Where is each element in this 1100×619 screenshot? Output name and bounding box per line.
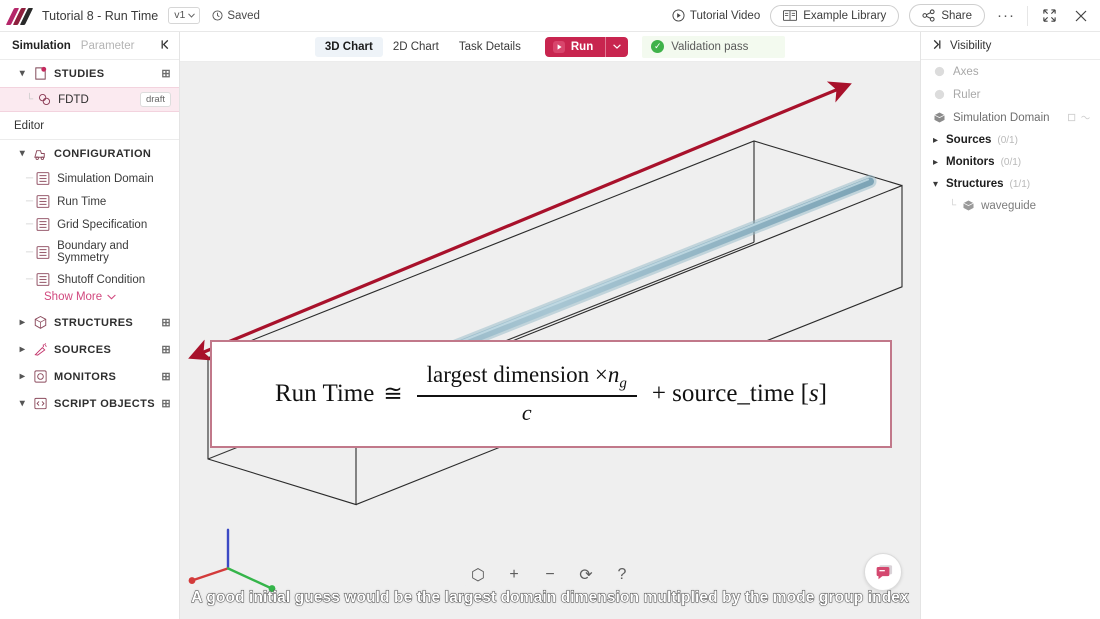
chevron-right-icon: ▸ xyxy=(18,371,27,382)
script-objects-icon xyxy=(33,396,48,411)
formula-relation: ≅ xyxy=(383,381,402,407)
structures-icon xyxy=(33,315,48,330)
group-count: (0/1) xyxy=(997,135,1018,146)
tab-simulation[interactable]: Simulation xyxy=(12,40,71,52)
sphere-icon xyxy=(933,65,946,78)
editor-label: Editor xyxy=(0,112,179,140)
sidebar-item-simulation-domain[interactable]: ─ Simulation Domain xyxy=(0,167,179,190)
item-label: Simulation Domain xyxy=(57,173,154,185)
tree-connector: └ xyxy=(26,94,33,105)
tail-unit: s xyxy=(809,380,819,407)
formula-denominator: c xyxy=(522,397,532,426)
item-label: waveguide xyxy=(981,200,1036,212)
configuration-icon xyxy=(33,146,48,161)
main-body: Simulation Parameter ▾ STUDIES xyxy=(0,32,1100,619)
reset-view-icon[interactable]: ⟳ xyxy=(573,563,599,587)
sidebar-tabs: Simulation Parameter xyxy=(0,32,179,60)
zoom-in-icon[interactable]: + xyxy=(501,563,527,587)
add-source-button[interactable]: ⊞ xyxy=(161,343,171,356)
group-count: (1/1) xyxy=(1010,179,1031,190)
chevron-down-icon xyxy=(107,294,116,300)
study-item-fdtd[interactable]: └ FDTD draft xyxy=(0,87,179,112)
collapse-left-icon[interactable] xyxy=(160,39,171,53)
add-monitor-button[interactable]: ⊞ xyxy=(161,370,171,383)
chevron-right-icon: ▸ xyxy=(931,157,940,168)
book-icon xyxy=(783,10,797,21)
center-area: 3D Chart 2D Chart Task Details Run xyxy=(180,32,920,619)
item-label: Shutoff Condition xyxy=(57,274,145,286)
group-label: Structures xyxy=(946,178,1004,190)
play-circle-icon xyxy=(672,9,685,22)
tail-text: + source_time [ xyxy=(652,380,809,407)
visibility-item-ruler[interactable]: Ruler xyxy=(921,83,1100,106)
expand-right-icon[interactable] xyxy=(931,39,942,53)
numerator-text: largest dimension × xyxy=(427,362,608,387)
flexcompute-logo[interactable] xyxy=(10,7,36,25)
validation-label: Validation pass xyxy=(671,41,748,53)
version-selector[interactable]: v1 xyxy=(168,7,200,24)
saved-status: Saved xyxy=(212,10,260,22)
structures-label: STRUCTURES xyxy=(54,317,133,329)
list-icon xyxy=(36,272,51,287)
axis-gizmo[interactable] xyxy=(189,530,276,592)
formula-callout: Run Time ≅ largest dimension ×ng c + sou… xyxy=(210,340,892,448)
visibility-group-monitors[interactable]: ▸ Monitors (0/1) xyxy=(921,151,1100,173)
show-more-button[interactable]: Show More xyxy=(0,291,179,303)
list-icon xyxy=(36,217,51,232)
share-icon xyxy=(922,9,935,22)
item-label: Boundary and Symmetry xyxy=(57,240,171,264)
sidebar-section-monitors[interactable]: ▸ MONITORS ⊞ xyxy=(0,363,179,390)
example-library-button[interactable]: Example Library xyxy=(770,5,899,27)
sidebar-section-structures[interactable]: ▸ STRUCTURES ⊞ xyxy=(0,309,179,336)
item-label: Grid Specification xyxy=(57,219,147,231)
right-sidebar: Visibility Axes Ruler Simulation Do xyxy=(920,32,1100,619)
visibility-panel-header: Visibility xyxy=(921,32,1100,60)
visibility-item-waveguide[interactable]: └ waveguide xyxy=(921,195,1100,216)
sidebar-item-shutoff-condition[interactable]: ─ Shutoff Condition xyxy=(0,268,179,291)
visibility-item-axes[interactable]: Axes xyxy=(921,60,1100,83)
chat-bubble-icon[interactable] xyxy=(864,553,902,591)
sidebar-section-configuration[interactable]: ▾ CONFIGURATION xyxy=(0,140,179,167)
chevron-down-icon: ▾ xyxy=(18,398,27,409)
sidebar-section-studies[interactable]: ▾ STUDIES ⊞ xyxy=(0,60,179,87)
tutorial-video-label: Tutorial Video xyxy=(690,10,760,22)
cube-icon xyxy=(933,111,946,124)
studies-icon xyxy=(33,66,48,81)
tab-3d-chart[interactable]: 3D Chart xyxy=(315,37,383,57)
version-label: v1 xyxy=(174,9,185,21)
chevron-right-icon: ▸ xyxy=(18,344,27,355)
visibility-group-structures[interactable]: ▾ Structures (1/1) xyxy=(921,173,1100,195)
top-bar-actions: Tutorial Video Example Library xyxy=(672,4,1092,27)
tab-task-details[interactable]: Task Details xyxy=(449,37,531,57)
monitors-label: MONITORS xyxy=(54,371,116,383)
monitors-icon xyxy=(33,369,48,384)
share-label: Share xyxy=(941,10,972,22)
item-label: Run Time xyxy=(57,196,106,208)
3d-simulation-viewport[interactable]: Run Time ≅ largest dimension ×ng c + sou… xyxy=(180,62,920,619)
sources-label: SOURCES xyxy=(54,344,111,356)
cube-icon xyxy=(962,199,975,212)
clock-icon xyxy=(212,10,223,21)
chevron-down-icon: ▾ xyxy=(18,148,27,159)
sidebar-item-run-time[interactable]: ─ Run Time xyxy=(0,190,179,213)
sphere-icon xyxy=(933,88,946,101)
sidebar-item-grid-specification[interactable]: ─ Grid Specification xyxy=(0,213,179,236)
list-icon xyxy=(36,194,51,209)
visibility-group-sources[interactable]: ▸ Sources (0/1) xyxy=(921,129,1100,151)
chevron-right-icon: ▸ xyxy=(18,317,27,328)
page-title: Tutorial 8 - Run Time xyxy=(42,9,158,23)
chevron-down-icon xyxy=(188,13,195,18)
visibility-toggle-icon[interactable] xyxy=(1068,113,1090,122)
fdtd-icon xyxy=(37,92,52,107)
chevron-down-icon xyxy=(613,44,621,49)
run-label: Run xyxy=(571,41,593,53)
tree-connector: ─ xyxy=(26,196,33,207)
top-bar: Tutorial 8 - Run Time v1 Saved Tutorial … xyxy=(0,0,1100,32)
group-label: Monitors xyxy=(946,156,995,168)
run-dropdown-button[interactable] xyxy=(605,37,628,57)
tree-connector: ─ xyxy=(26,173,33,184)
tree-connector: └ xyxy=(949,200,956,211)
visibility-title: Visibility xyxy=(950,40,991,52)
tutorial-caption: A good initial guess would be the larges… xyxy=(180,589,920,607)
run-button-group: Run xyxy=(545,37,628,57)
tree-connector: ─ xyxy=(26,247,33,258)
group-count: (0/1) xyxy=(1001,157,1022,168)
example-library-label: Example Library xyxy=(803,10,886,22)
item-label: Ruler xyxy=(953,89,980,101)
tutorial-video-button[interactable]: Tutorial Video xyxy=(672,9,760,22)
left-sidebar: Simulation Parameter ▾ STUDIES xyxy=(0,32,180,619)
share-button[interactable]: Share xyxy=(909,4,985,27)
play-icon xyxy=(553,41,565,53)
saved-label: Saved xyxy=(227,10,260,22)
sidebar-section-sources[interactable]: ▸ SOURCES ⊞ xyxy=(0,336,179,363)
script-objects-label: SCRIPT OBJECTS xyxy=(54,398,155,410)
collapse-arrows-icon[interactable] xyxy=(1038,5,1060,27)
list-icon xyxy=(36,171,51,186)
list-icon xyxy=(36,245,51,260)
numerator-variable: n xyxy=(608,362,620,387)
help-icon[interactable]: ? xyxy=(609,563,635,587)
numerator-subscript: g xyxy=(619,376,627,392)
application-window: Tutorial 8 - Run Time v1 Saved Tutorial … xyxy=(0,0,1100,619)
formula-fraction: largest dimension ×ng c xyxy=(417,362,637,426)
perspective-cube-icon[interactable]: ⬡ xyxy=(465,563,491,587)
status-badge: draft xyxy=(140,92,171,107)
chevron-down-icon: ▾ xyxy=(18,68,27,79)
close-icon[interactable] xyxy=(1070,5,1092,27)
configuration-label: CONFIGURATION xyxy=(54,148,151,160)
check-circle-icon: ✓ xyxy=(651,40,664,53)
validation-status: ✓ Validation pass xyxy=(642,36,785,58)
item-label: Simulation Domain xyxy=(953,112,1050,124)
tab-2d-chart[interactable]: 2D Chart xyxy=(383,37,449,57)
study-label: FDTD xyxy=(58,94,89,106)
formula-lhs: Run Time xyxy=(275,380,374,408)
add-script-object-button[interactable]: ⊞ xyxy=(161,397,171,410)
tree-connector: ─ xyxy=(26,219,33,230)
center-toolbar: 3D Chart 2D Chart Task Details Run xyxy=(180,32,920,62)
add-structure-button[interactable]: ⊞ xyxy=(161,316,171,329)
sidebar-item-boundary-and-symmetry[interactable]: ─ Boundary and Symmetry xyxy=(0,236,179,268)
run-button[interactable]: Run xyxy=(545,37,605,57)
more-options-button[interactable]: ··· xyxy=(995,11,1017,21)
chevron-right-icon: ▸ xyxy=(931,135,940,146)
toolbar-divider xyxy=(1027,6,1028,26)
sources-icon xyxy=(33,342,48,357)
formula-numerator: largest dimension ×ng xyxy=(417,362,637,395)
group-label: Sources xyxy=(946,134,991,146)
show-more-label: Show More xyxy=(44,291,102,303)
item-label: Axes xyxy=(953,66,979,78)
studies-label: STUDIES xyxy=(54,68,104,80)
visibility-item-simulation-domain[interactable]: Simulation Domain xyxy=(921,106,1100,129)
formula-tail: + source_time [s] xyxy=(652,380,827,408)
tab-parameter[interactable]: Parameter xyxy=(81,40,135,52)
add-study-button[interactable]: ⊞ xyxy=(161,67,171,80)
zoom-out-icon[interactable]: − xyxy=(537,563,563,587)
chevron-down-icon: ▾ xyxy=(931,179,940,190)
tail-end: ] xyxy=(819,380,827,407)
run-time-formula: Run Time ≅ largest dimension ×ng c + sou… xyxy=(275,362,827,426)
tree-connector: ─ xyxy=(26,274,33,285)
sidebar-section-script-objects[interactable]: ▾ SCRIPT OBJECTS ⊞ xyxy=(0,390,179,417)
